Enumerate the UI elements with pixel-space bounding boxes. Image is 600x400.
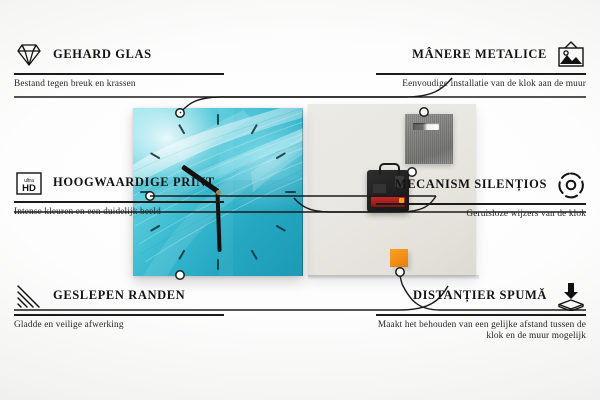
ultra-hd-icon: ultra HD (14, 168, 44, 198)
callout-desc: Intense kleuren en een duidelijk beeld (14, 207, 224, 219)
callout-desc: Bestand tegen breuk en krassen (14, 79, 224, 91)
svg-text:HD: HD (22, 183, 36, 194)
callout-gehard-glas: GEHARD GLAS Bestand tegen breuk en krass… (14, 40, 224, 90)
callout-desc: Gladde en veilige afwerking (14, 320, 224, 332)
callout-header: GEHARD GLAS (14, 40, 224, 70)
callout-header: MÂNERE METALICE (376, 40, 586, 70)
callout-rule (14, 201, 224, 203)
callout-geslepen-randen: GESLEPEN RANDEN Gladde en veilige afwerk… (14, 281, 224, 331)
callout-header: GESLEPEN RANDEN (14, 281, 224, 311)
callout-header: DISTANȚIER SPUMĂ (376, 281, 586, 311)
callout-title: HOOGWAARDIGE PRINT (53, 176, 215, 190)
hanger-slot-icon (413, 123, 439, 130)
gear-icon (556, 170, 586, 200)
callout-rule (376, 73, 586, 75)
wall-hanger-icon (556, 40, 586, 70)
callout-rule (14, 73, 224, 75)
callout-rule (376, 203, 586, 205)
callout-mecanism-silentios: MECANISM SILENȚIOS Geruisloze wijzers va… (376, 170, 586, 220)
metal-hanger-plate (405, 114, 453, 164)
callout-distantier-spuma: DISTANȚIER SPUMĂ Maakt het behouden van … (376, 281, 586, 343)
callout-header: ultra HD HOOGWAARDIGE PRINT (14, 168, 224, 198)
diamond-icon (14, 40, 44, 70)
foam-spacer-pad (390, 249, 408, 267)
callout-manere-metalice: MÂNERE METALICE Eenvoudige installatie v… (376, 40, 586, 90)
callout-title: MÂNERE METALICE (412, 48, 547, 62)
callout-hoogwaardige-print: ultra HD HOOGWAARDIGE PRINT Intense kleu… (14, 168, 224, 218)
infographic-canvas: GEHARD GLAS Bestand tegen breuk en krass… (0, 0, 600, 400)
callout-rule (14, 314, 224, 316)
callout-rule (376, 314, 586, 316)
callout-title: DISTANȚIER SPUMĂ (413, 289, 547, 303)
spacer-press-icon (556, 281, 586, 311)
beveled-edges-icon (14, 281, 44, 311)
callout-title: GEHARD GLAS (53, 48, 152, 62)
callout-desc: Maakt het behouden van een gelijke afsta… (376, 320, 586, 343)
callout-desc: Eenvoudige installatie van de klok aan d… (376, 79, 586, 91)
callout-title: MECANISM SILENȚIOS (395, 178, 547, 192)
callout-header: MECANISM SILENȚIOS (376, 170, 586, 200)
callout-title: GESLEPEN RANDEN (53, 289, 185, 303)
callout-desc: Geruisloze wijzers van de klok (376, 209, 586, 221)
